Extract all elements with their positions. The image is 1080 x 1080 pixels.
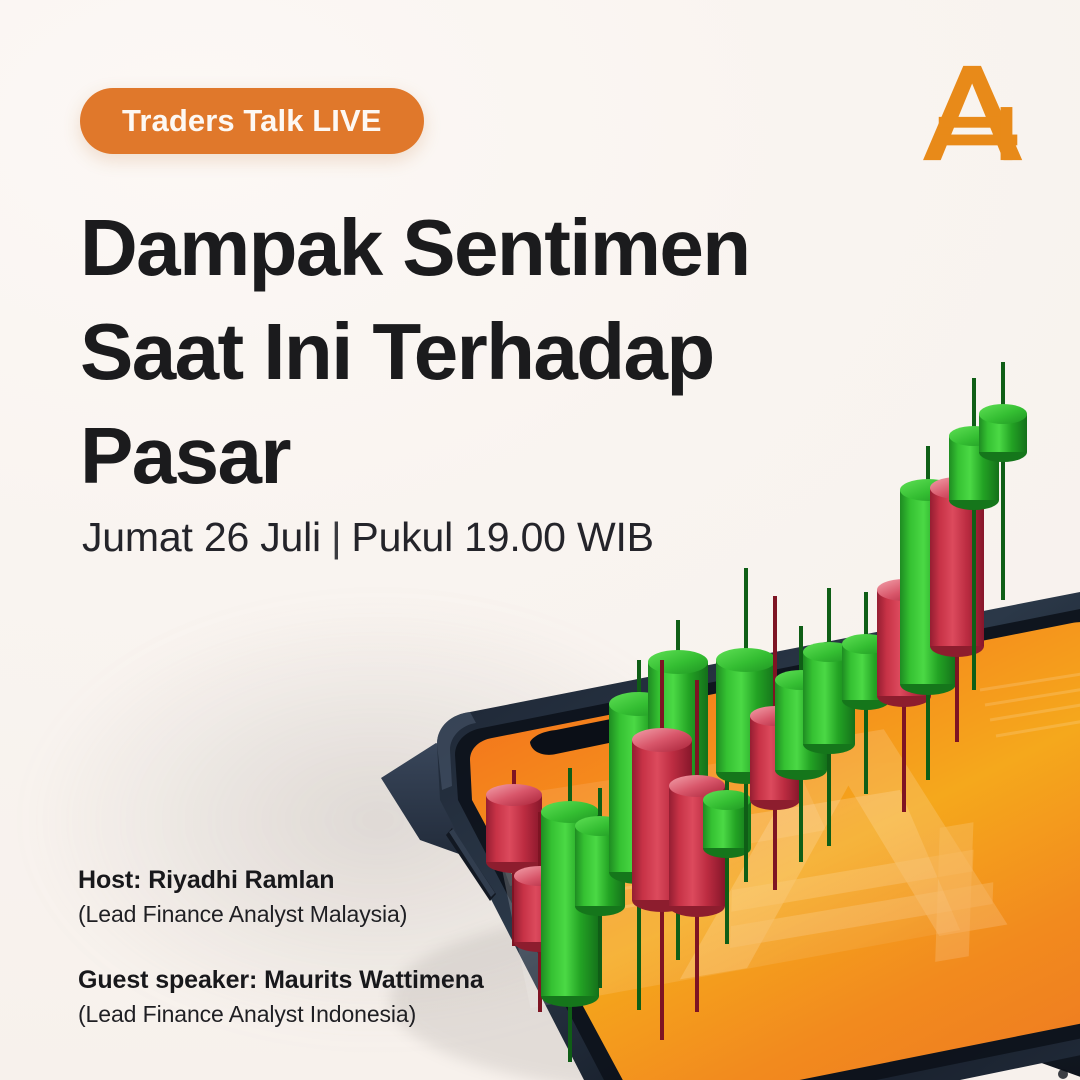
datetime-separator: | bbox=[331, 514, 341, 561]
candle-13 bbox=[803, 588, 855, 846]
candle-14 bbox=[842, 592, 890, 794]
candle-2 bbox=[514, 812, 566, 1012]
ascendex-a-logo-icon bbox=[920, 56, 1038, 164]
candle-15 bbox=[877, 548, 931, 812]
candle-7 bbox=[632, 660, 692, 1040]
candle-3 bbox=[541, 768, 599, 1062]
event-date: Jumat 26 Juli bbox=[82, 514, 321, 560]
candle-16 bbox=[900, 446, 956, 780]
host-role: (Lead Finance Analyst Malaysia) bbox=[78, 901, 484, 928]
guest-name: Guest speaker: Maurits Wattimena bbox=[78, 966, 484, 995]
candle-6 bbox=[648, 620, 708, 960]
live-badge-label: Traders Talk LIVE bbox=[122, 103, 382, 139]
candle-17 bbox=[930, 430, 984, 742]
candle-18 bbox=[949, 378, 999, 690]
poster-canvas: Traders Talk LIVE Dampak Sentimen Saat I… bbox=[0, 0, 1080, 1080]
page-title: Dampak Sentimen Saat Ini Terhadap Pasar bbox=[80, 196, 840, 508]
host-name: Host: Riyadhi Ramlan bbox=[78, 866, 484, 895]
smartphone bbox=[381, 589, 1080, 1080]
candle-1 bbox=[486, 770, 542, 946]
speaker-credits: Host: Riyadhi Ramlan (Lead Finance Analy… bbox=[78, 866, 484, 1028]
headline-line-1: Dampak Sentimen bbox=[80, 196, 840, 300]
candle-19 bbox=[979, 362, 1027, 600]
candle-5 bbox=[609, 660, 669, 1010]
guest-role: (Lead Finance Analyst Indonesia) bbox=[78, 1001, 484, 1028]
live-badge[interactable]: Traders Talk LIVE bbox=[80, 88, 424, 154]
candle-12 bbox=[775, 626, 827, 862]
candle-8 bbox=[669, 680, 725, 1012]
guest-credit: Guest speaker: Maurits Wattimena (Lead F… bbox=[78, 966, 484, 1028]
candle-4 bbox=[575, 788, 625, 988]
event-time: Pukul 19.00 WIB bbox=[351, 514, 653, 560]
host-credit: Host: Riyadhi Ramlan (Lead Finance Analy… bbox=[78, 866, 484, 928]
candle-9 bbox=[703, 754, 751, 944]
headline-line-3: Pasar bbox=[80, 404, 840, 508]
headline-line-2: Saat Ini Terhadap bbox=[80, 300, 840, 404]
candle-11 bbox=[750, 596, 800, 890]
event-datetime: Jumat 26 Juli|Pukul 19.00 WIB bbox=[82, 514, 654, 561]
candle-10 bbox=[716, 568, 776, 882]
